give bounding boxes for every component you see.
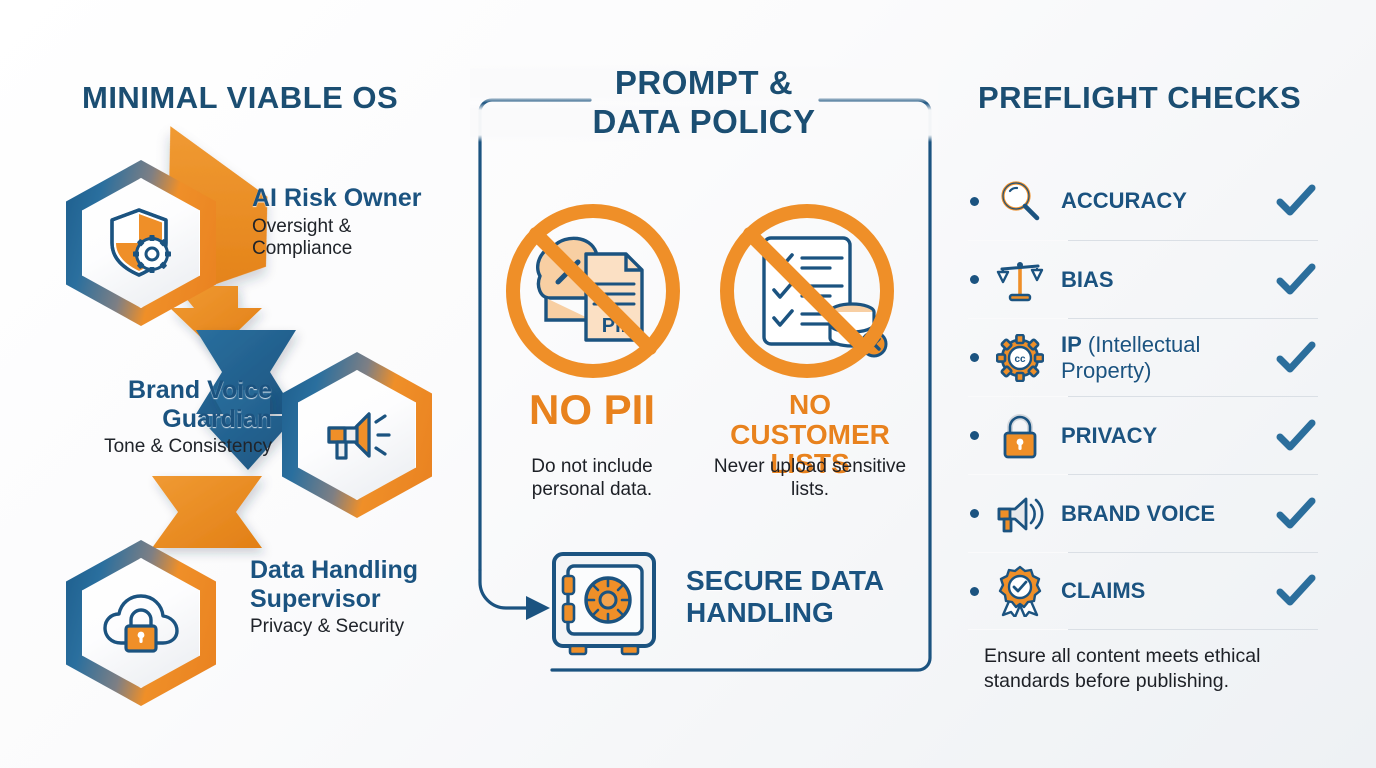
check-label-main: ACCURACY	[1061, 188, 1187, 213]
safe-vault-icon	[546, 546, 662, 662]
node-subtitle: Privacy & Security	[250, 616, 480, 638]
no-pii-description: Do not include personal data.	[496, 456, 688, 502]
magnifier-icon	[993, 174, 1047, 228]
check-row-claims[interactable]: CLAIMS	[968, 552, 1318, 630]
scales-icon	[993, 253, 1047, 307]
node-subtitle: Tone & Consistency	[62, 436, 272, 458]
preflight-checks-footer: Ensure all content meets ethical standar…	[984, 644, 1324, 693]
checkmark-icon[interactable]	[1274, 260, 1318, 300]
check-row-accuracy[interactable]: ACCURACY	[968, 162, 1318, 240]
check-row-bias[interactable]: BIAS	[968, 240, 1318, 318]
checkmark-icon[interactable]	[1274, 181, 1318, 221]
middle-heading-line-1: PROMPT &	[470, 64, 938, 103]
checkmark-icon[interactable]	[1274, 494, 1318, 534]
check-label: ACCURACY	[1061, 188, 1274, 213]
bullet-icon	[970, 509, 979, 518]
hex-badge	[66, 160, 216, 326]
middle-column-heading: PROMPT & DATA POLICY	[470, 64, 938, 142]
checkmark-icon[interactable]	[1274, 571, 1318, 611]
bullet-icon	[970, 275, 979, 284]
bullet-icon	[970, 431, 979, 440]
node-text: Brand Voice Guardian Tone & Consistency	[62, 376, 272, 458]
node-subtitle: Oversight & Compliance	[252, 216, 432, 261]
check-label-main: PRIVACY	[1061, 423, 1157, 448]
node-title: Data Handling Supervisor	[250, 556, 480, 613]
megaphone-icon	[298, 370, 416, 500]
check-label: PRIVACY	[1061, 423, 1274, 448]
infographic-canvas: MINIMAL VIABLE OS	[0, 0, 1376, 768]
gear-cc-icon: cc	[993, 331, 1047, 385]
bullet-icon	[970, 587, 979, 596]
secure-data-handling-label: SECURE DATA HANDLING	[686, 565, 936, 629]
hex-badge	[282, 352, 432, 518]
left-column-heading: MINIMAL VIABLE OS	[82, 80, 398, 116]
check-label-main: CLAIMS	[1061, 578, 1145, 603]
svg-text:cc: cc	[1014, 354, 1026, 365]
cloud-lock-icon	[82, 558, 200, 688]
node-title: Brand Voice Guardian	[62, 376, 272, 433]
check-label-main: IP	[1061, 332, 1082, 357]
bullet-icon	[970, 353, 979, 362]
node-title: AI Risk Owner	[252, 184, 432, 213]
preflight-checks-list: ACCURACY	[968, 162, 1318, 630]
no-customer-lists-description: Never upload sensitive lists.	[704, 456, 916, 502]
checkmark-icon[interactable]	[1274, 338, 1318, 378]
check-row-brand-voice[interactable]: BRAND VOICE	[968, 474, 1318, 552]
node-text: AI Risk Owner Oversight & Compliance	[252, 184, 432, 260]
right-column-heading: PREFLIGHT CHECKS	[978, 80, 1301, 116]
check-label: CLAIMS	[1061, 578, 1274, 603]
secure-label-line-1: SECURE DATA	[686, 565, 936, 597]
check-label-main: BRAND VOICE	[1061, 501, 1215, 526]
checkmark-icon[interactable]	[1274, 416, 1318, 456]
check-label-main: BIAS	[1061, 267, 1114, 292]
no-pii-icon: PII	[498, 196, 688, 386]
check-row-ip[interactable]: cc IP (Intellectual Property)	[968, 318, 1318, 396]
secure-label-line-2: HANDLING	[686, 597, 936, 629]
check-label: BIAS	[1061, 267, 1274, 292]
check-label: BRAND VOICE	[1061, 501, 1274, 526]
padlock-icon	[993, 409, 1047, 463]
shield-gear-icon	[82, 178, 200, 308]
no-pii-label: NO PII	[492, 388, 692, 433]
check-label-sub: (Intellectual Property)	[1061, 332, 1200, 382]
node-text: Data Handling Supervisor Privacy & Secur…	[250, 556, 480, 638]
no-customer-lists-icon	[712, 196, 902, 386]
megaphone-icon	[993, 487, 1047, 541]
check-row-privacy[interactable]: PRIVACY	[968, 396, 1318, 474]
ribbon-check-icon	[993, 564, 1047, 618]
middle-heading-line-2: DATA POLICY	[470, 103, 938, 142]
hex-badge	[66, 540, 216, 706]
bullet-icon	[970, 197, 979, 206]
check-label: IP (Intellectual Property)	[1061, 332, 1274, 382]
